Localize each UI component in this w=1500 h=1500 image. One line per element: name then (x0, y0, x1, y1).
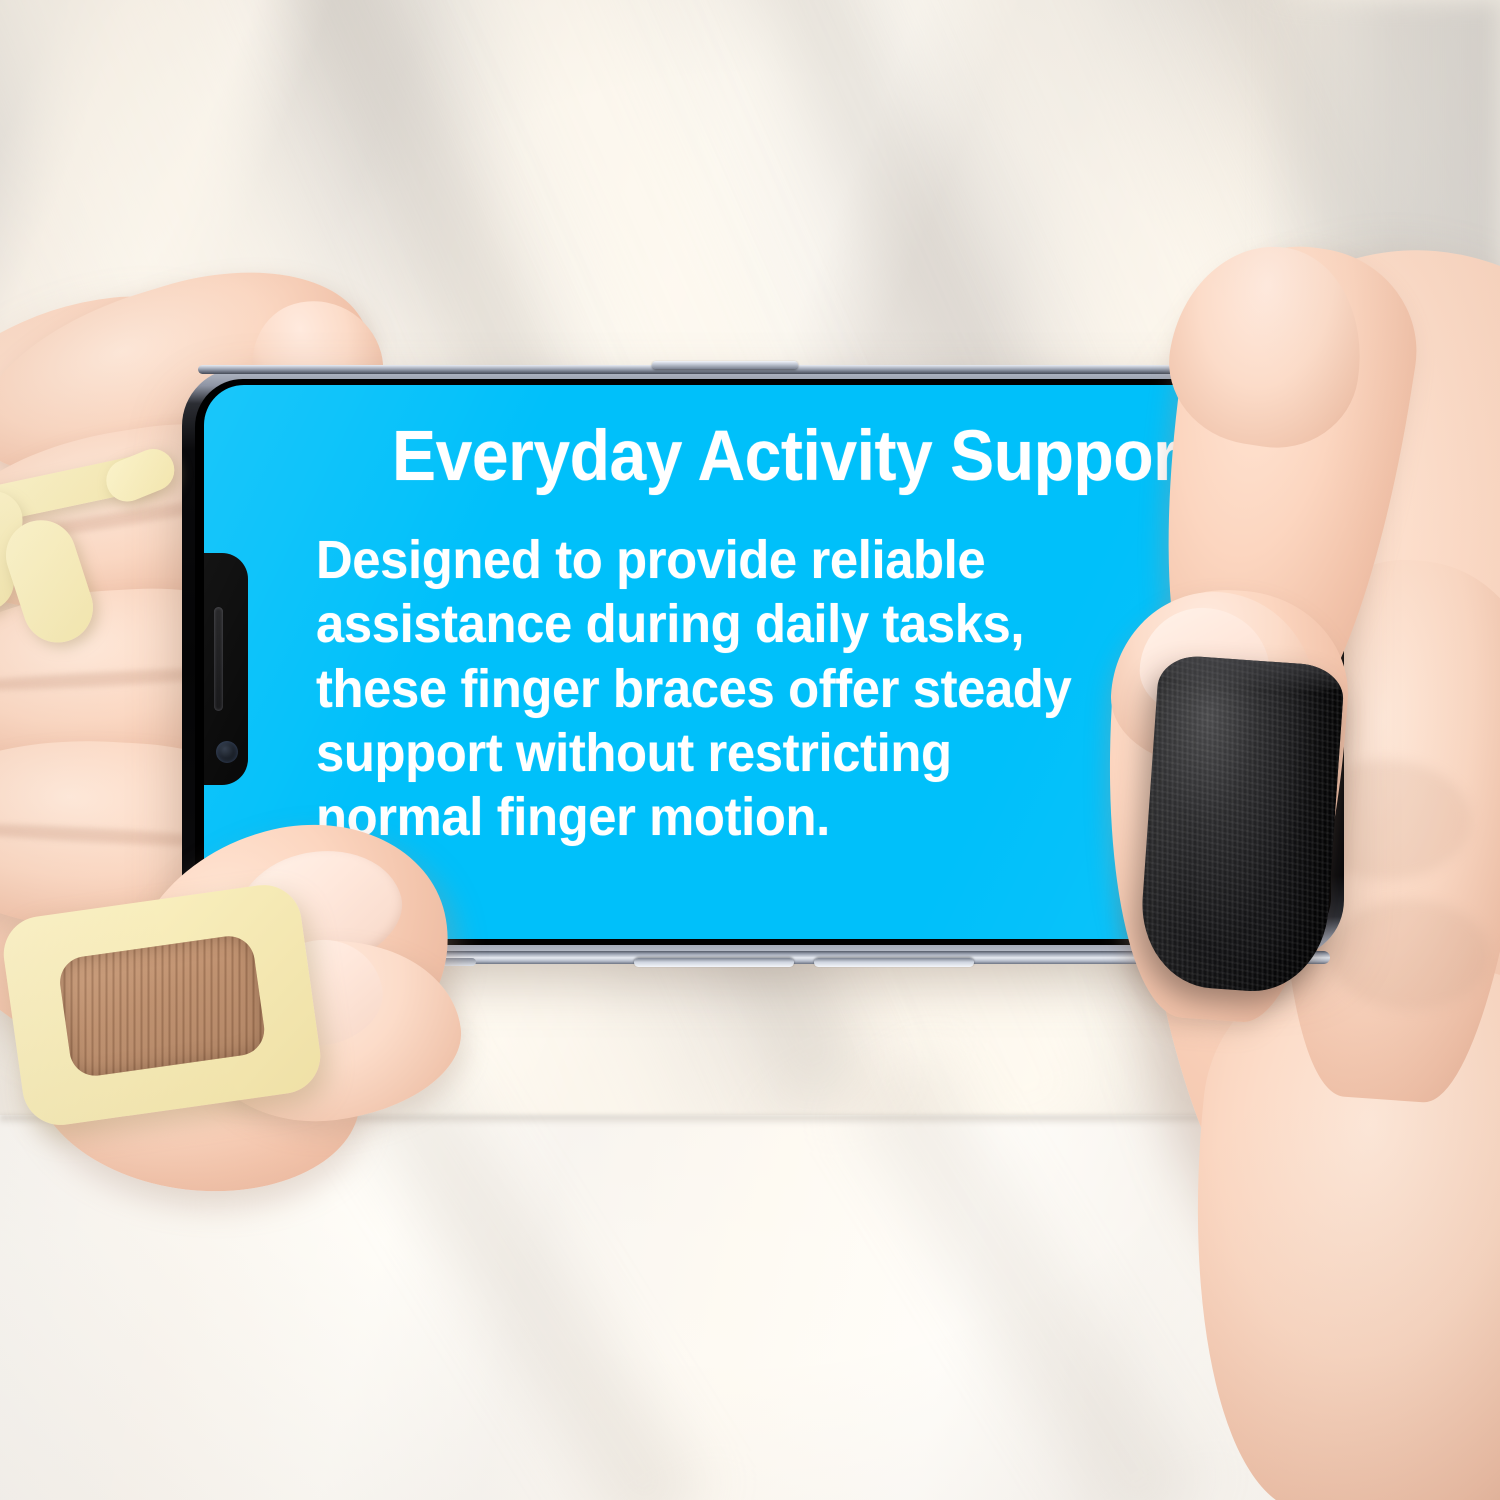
cream-hook-arm (0, 511, 102, 652)
black-finger-brace (1137, 654, 1346, 996)
product-photo-scene: Everyday Activity Support Designed to pr… (0, 0, 1500, 1500)
body-line: assistance during daily tasks, (316, 592, 1218, 656)
screen-title: Everyday Activity Support (350, 421, 1243, 492)
body-line: Designed to provide reliable (316, 528, 1218, 592)
volume-up-button[interactable] (634, 958, 794, 967)
cream-finger-brace-hook (0, 447, 196, 643)
body-line: support without restricting (316, 721, 1218, 785)
phone-notch (204, 553, 248, 785)
body-line: normal finger motion. (316, 785, 1218, 849)
front-camera-icon (216, 741, 238, 763)
earpiece-speaker-icon (214, 607, 223, 711)
power-button[interactable] (652, 361, 798, 369)
volume-down-button[interactable] (814, 958, 974, 967)
cream-hook-tip (100, 443, 181, 508)
right-hand-knuckle (1330, 900, 1490, 1010)
screen-body-text: Designed to provide reliable assistance … (316, 528, 1218, 849)
body-line: these finger braces offer steady (316, 657, 1218, 721)
cream-finger-brace-ring (0, 880, 325, 1130)
